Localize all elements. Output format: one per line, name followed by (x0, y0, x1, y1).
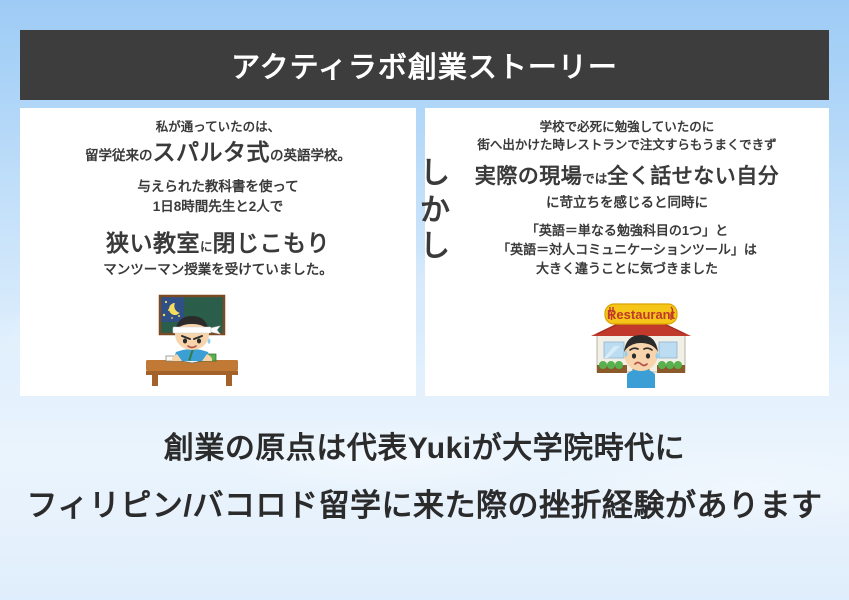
left-b1-line2: 留学従来のスパルタ式の英語学校。 (28, 136, 408, 169)
right-b2-emphasis-2: 全く話せない自分 (607, 165, 779, 188)
right-b2-emphasis-1: 実際の現場 (475, 165, 583, 188)
right-block-2: 実際の現場では全く話せない自分 に苛立ちを感じると同時に (433, 162, 821, 212)
left-b3-middle: に (200, 240, 213, 254)
left-b3-emphasis-2: 閉じこもり (213, 230, 331, 256)
svg-text:Restaurant: Restaurant (607, 307, 676, 322)
page-title: アクティラボ創業ストーリー (231, 44, 618, 86)
right-b1-line2: 街へ出かけた時レストランで注文すらもうまくできず (433, 136, 821, 154)
left-panel-body: 私が通っていたのは、 留学従来のスパルタ式の英語学校。 与えられた教科書を使って… (20, 108, 416, 280)
right-b3-line3: 大きく違うことに気づきました (433, 260, 821, 279)
however-char-3: し (418, 229, 452, 266)
left-block-3: 狭い教室に閉じこもり マンツーマン授業を受けていました。 (28, 227, 408, 280)
right-b2-sub: に苛立ちを感じると同時に (433, 193, 821, 213)
left-b1-emphasis: スパルタ式 (153, 139, 271, 165)
slide-canvas: アクティラボ創業ストーリー 私が通っていたのは、 留学従来のスパルタ式の英語学校… (0, 0, 849, 600)
banner-line-2: フィリピン/バコロド留学に来た際の挫折経験があります (19, 489, 831, 533)
left-b3-sub: マンツーマン授業を受けていました。 (28, 260, 408, 280)
left-b1-post: の英語学校。 (270, 148, 351, 163)
left-b1-pre: 留学従来の (85, 148, 153, 163)
left-b3-emphline: 狭い教室に閉じこもり (28, 227, 408, 260)
title-bar: アクティラボ創業ストーリー (20, 30, 829, 100)
banner-row-1: 創業の原点は代表Yukiが大学院時代に (0, 432, 849, 475)
however-connector-label: し か し (418, 156, 452, 266)
right-b3-line1: 「英語＝単なる勉強科目の1つ」と (433, 222, 821, 241)
left-b2-line1: 与えられた教科書を使って (28, 177, 408, 197)
however-char-2: か (418, 193, 452, 230)
left-block-1: 私が通っていたのは、 留学従来のスパルタ式の英語学校。 (28, 118, 408, 169)
content-panels: 私が通っていたのは、 留学従来のスパルタ式の英語学校。 与えられた教科書を使って… (20, 108, 829, 396)
right-panel-body: 学校で必死に勉強していたのに 街へ出かけた時レストランで注文すらもうまくできず … (425, 108, 829, 279)
left-b3-emphasis-1: 狭い教室 (106, 230, 200, 256)
troubled-man-at-restaurant-illustration: Restaurant (573, 296, 707, 388)
right-block-1: 学校で必死に勉強していたのに 街へ出かけた時レストランで注文すらもうまくできず (433, 118, 821, 154)
right-story-panel: 学校で必死に勉強していたのに 街へ出かけた時レストランで注文すらもうまくできず … (425, 108, 829, 396)
however-char-1: し (418, 156, 452, 193)
bottom-banner: 創業の原点は代表Yukiが大学院時代に フィリピン/バコロド留学に来た際の挫折経… (0, 432, 849, 546)
left-story-panel: 私が通っていたのは、 留学従来のスパルタ式の英語学校。 与えられた教科書を使って… (20, 108, 416, 396)
right-block-3: 「英語＝単なる勉強科目の1つ」と 「英語＝対人コミュニケーションツール」は 大き… (433, 222, 821, 279)
right-b3-line2: 「英語＝対人コミュニケーションツール」は (433, 241, 821, 260)
left-b1-line1: 私が通っていたのは、 (28, 118, 408, 136)
banner-row-2: フィリピン/バコロド留学に来た際の挫折経験があります (0, 489, 849, 533)
right-b2-emphline: 実際の現場では全く話せない自分 (433, 162, 821, 192)
banner-line-1: 創業の原点は代表Yukiが大学院時代に (156, 432, 693, 475)
right-b2-middle: では (582, 172, 607, 186)
left-block-2: 与えられた教科書を使って 1日8時間先生と2人で (28, 177, 408, 216)
left-b2-line2: 1日8時間先生と2人で (28, 197, 408, 217)
student-studying-at-night-illustration (136, 294, 248, 386)
right-b1-line1: 学校で必死に勉強していたのに (433, 118, 821, 136)
